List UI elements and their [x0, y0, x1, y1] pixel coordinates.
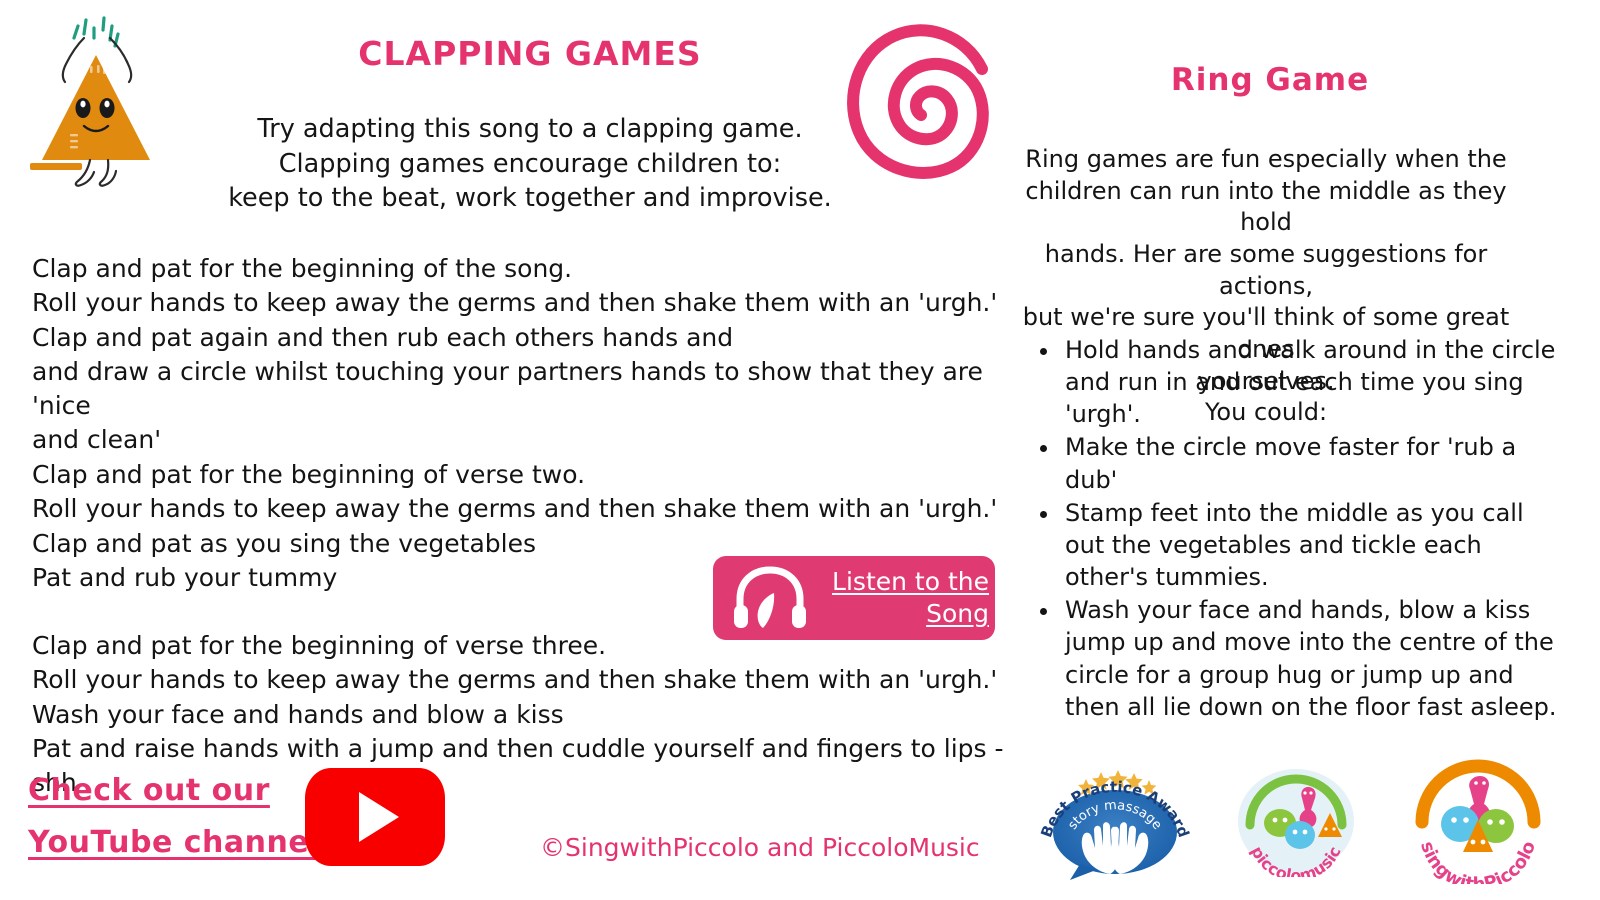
list-item: Stamp feet into the middle as you call o… [1061, 497, 1561, 593]
verse-line: Clap and pat for the beginning of verse … [32, 458, 1042, 492]
verse-line: Clap and pat again and then rub each oth… [32, 321, 1042, 355]
best-practice-award-logo: Best Practice Award story massage [1040, 752, 1190, 880]
orange-triangle-character-icon [28, 8, 164, 188]
play-triangle-icon [359, 792, 399, 842]
headphones-icon [731, 565, 809, 631]
list-item: Make the circle move faster for 'rub a d… [1061, 431, 1561, 495]
clapping-intro: Try adapting this song to a clapping gam… [200, 112, 860, 216]
singwithpiccolo-logo: singwithPiccolo [1398, 748, 1558, 884]
ring-intro-line: children can run into the middle as they… [1010, 176, 1522, 239]
page-title-clapping-games: CLAPPING GAMES [300, 36, 760, 72]
verse-line: Roll your hands to keep away the germs a… [32, 286, 1042, 320]
youtube-channel-link[interactable]: Check out our YouTube channel [28, 765, 308, 868]
orange-bar [30, 163, 82, 170]
piccolomusic-logo: piccolomusic [1230, 765, 1362, 877]
listen-to-the-song-button[interactable]: Listen to the Song [713, 556, 995, 640]
listen-button-label: Listen to the Song [809, 566, 995, 630]
youtube-link-line1: Check out our [28, 765, 308, 817]
verse-line: and draw a circle whilst touching your p… [32, 355, 1042, 424]
verse-line: Roll your hands to keep away the germs a… [32, 663, 1042, 697]
verse-line: Clap and pat for the beginning of the so… [32, 252, 1042, 286]
copyright-text: ©SingwithPiccolo and PiccoloMusic [540, 833, 980, 862]
youtube-link-line2: YouTube channel [28, 817, 308, 869]
intro-line: keep to the beat, work together and impr… [200, 181, 860, 216]
listen-label-line1: Listen to the [832, 567, 989, 596]
ring-intro-line: hands. Her are some suggestions for acti… [1010, 239, 1522, 302]
verse-line: Wash your face and hands and blow a kiss [32, 698, 1042, 732]
verse-line: and clean' [32, 423, 1042, 457]
list-item: Hold hands and walk around in the circle… [1061, 334, 1561, 430]
page-title-ring-game: Ring Game [1095, 62, 1445, 98]
ring-game-suggestions-list: Hold hands and walk around in the circle… [1035, 334, 1561, 724]
verse-one-block: Clap and pat for the beginning of the so… [32, 252, 1042, 458]
pink-spiral-icon [832, 12, 1018, 198]
list-item: Wash your face and hands, blow a kiss ju… [1061, 594, 1561, 723]
youtube-play-icon[interactable] [305, 768, 445, 866]
verse-line: Roll your hands to keep away the germs a… [32, 492, 1042, 526]
listen-label-line2: Song [926, 599, 989, 628]
ring-intro-line: Ring games are fun especially when the [1010, 144, 1522, 176]
intro-line: Clapping games encourage children to: [200, 147, 860, 182]
intro-line: Try adapting this song to a clapping gam… [200, 112, 860, 147]
poster-page: CLAPPING GAMES Try adapting this song to… [0, 0, 1600, 900]
